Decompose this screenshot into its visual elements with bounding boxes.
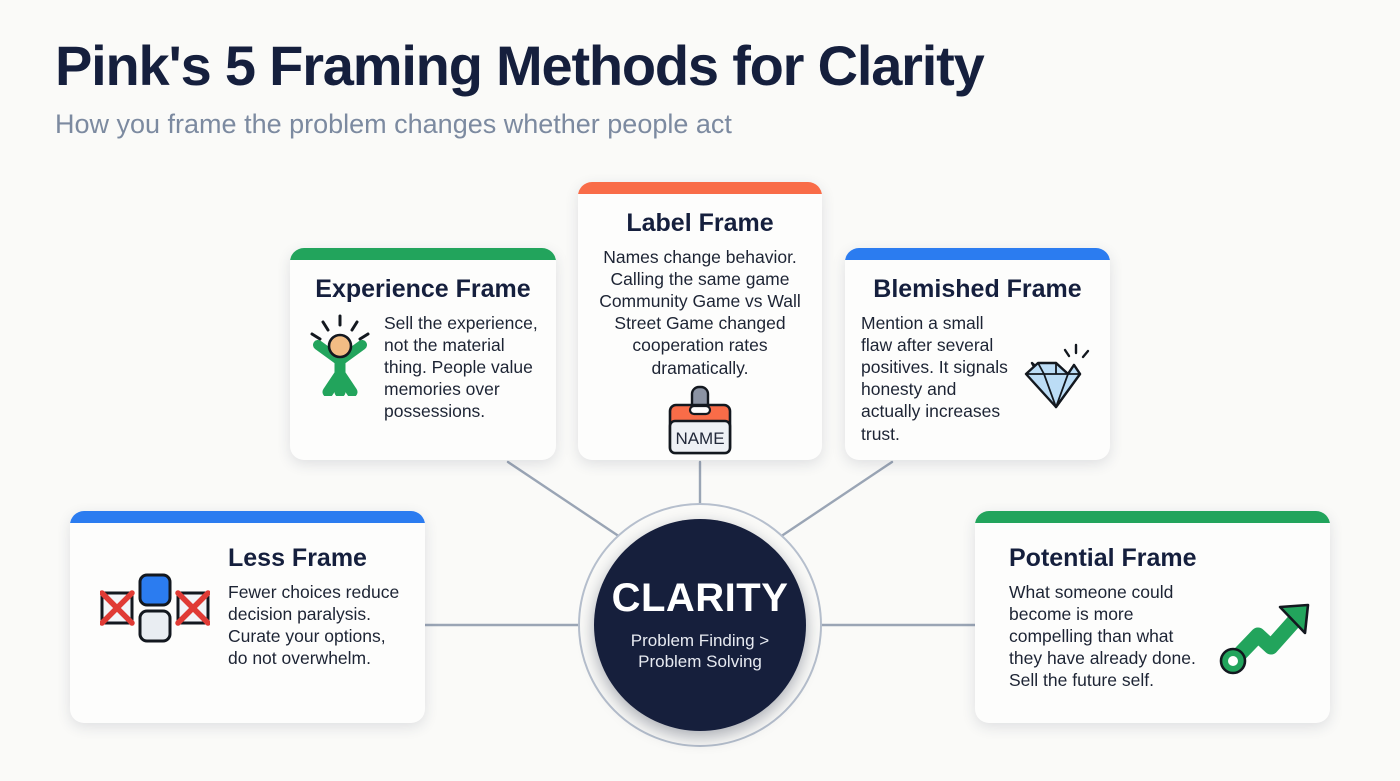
hub-subtitle-line2: Problem Solving: [631, 651, 769, 672]
accent-bar-green: [290, 248, 556, 260]
card-body-blemished: Mention a small flaw after several posit…: [861, 312, 1008, 445]
card-body-experience: Sell the experience, not the material th…: [384, 312, 540, 423]
card-title-blemished: Blemished Frame: [861, 276, 1094, 304]
name-badge-icon: NAME: [594, 385, 806, 457]
card-title-experience: Experience Frame: [306, 276, 540, 304]
card-body-label: Names change behavior. Calling the same …: [594, 246, 806, 379]
badge-text: NAME: [675, 429, 724, 448]
growth-arrow-icon: [1218, 597, 1314, 675]
card-experience-frame[interactable]: Experience Frame: [290, 248, 556, 460]
hub-title: CLARITY: [612, 578, 789, 618]
card-body-less: Fewer choices reduce decision paralysis.…: [228, 581, 409, 670]
connector-blemished: [768, 462, 892, 545]
infographic-canvas: Pink's 5 Framing Methods for Clarity How…: [0, 0, 1400, 781]
card-title-less: Less Frame: [228, 545, 409, 573]
hub-subtitle: Problem Finding > Problem Solving: [631, 630, 769, 673]
fewer-options-icon: [100, 565, 210, 649]
card-body-potential: What someone could become is more compel…: [1009, 581, 1204, 692]
accent-bar-orange: [578, 182, 822, 194]
hub-subtitle-line1: Problem Finding >: [631, 630, 769, 651]
celebrating-person-icon: [306, 312, 374, 396]
connector-experience: [508, 462, 632, 545]
chipped-diamond-icon: [1018, 341, 1094, 415]
card-blemished-frame[interactable]: Blemished Frame Mention a small flaw aft…: [845, 248, 1110, 460]
card-title-label: Label Frame: [594, 210, 806, 238]
card-title-potential: Potential Frame: [1009, 545, 1314, 573]
accent-bar-blue: [70, 511, 425, 523]
card-potential-frame[interactable]: Potential Frame What someone could becom…: [975, 511, 1330, 723]
hub-clarity: CLARITY Problem Finding > Problem Solvin…: [594, 519, 806, 731]
card-label-frame[interactable]: Label Frame Names change behavior. Calli…: [578, 182, 822, 460]
accent-bar-green: [975, 511, 1330, 523]
accent-bar-blue: [845, 248, 1110, 260]
card-less-frame[interactable]: Less Frame Fewer choices reduce decision…: [70, 511, 425, 723]
